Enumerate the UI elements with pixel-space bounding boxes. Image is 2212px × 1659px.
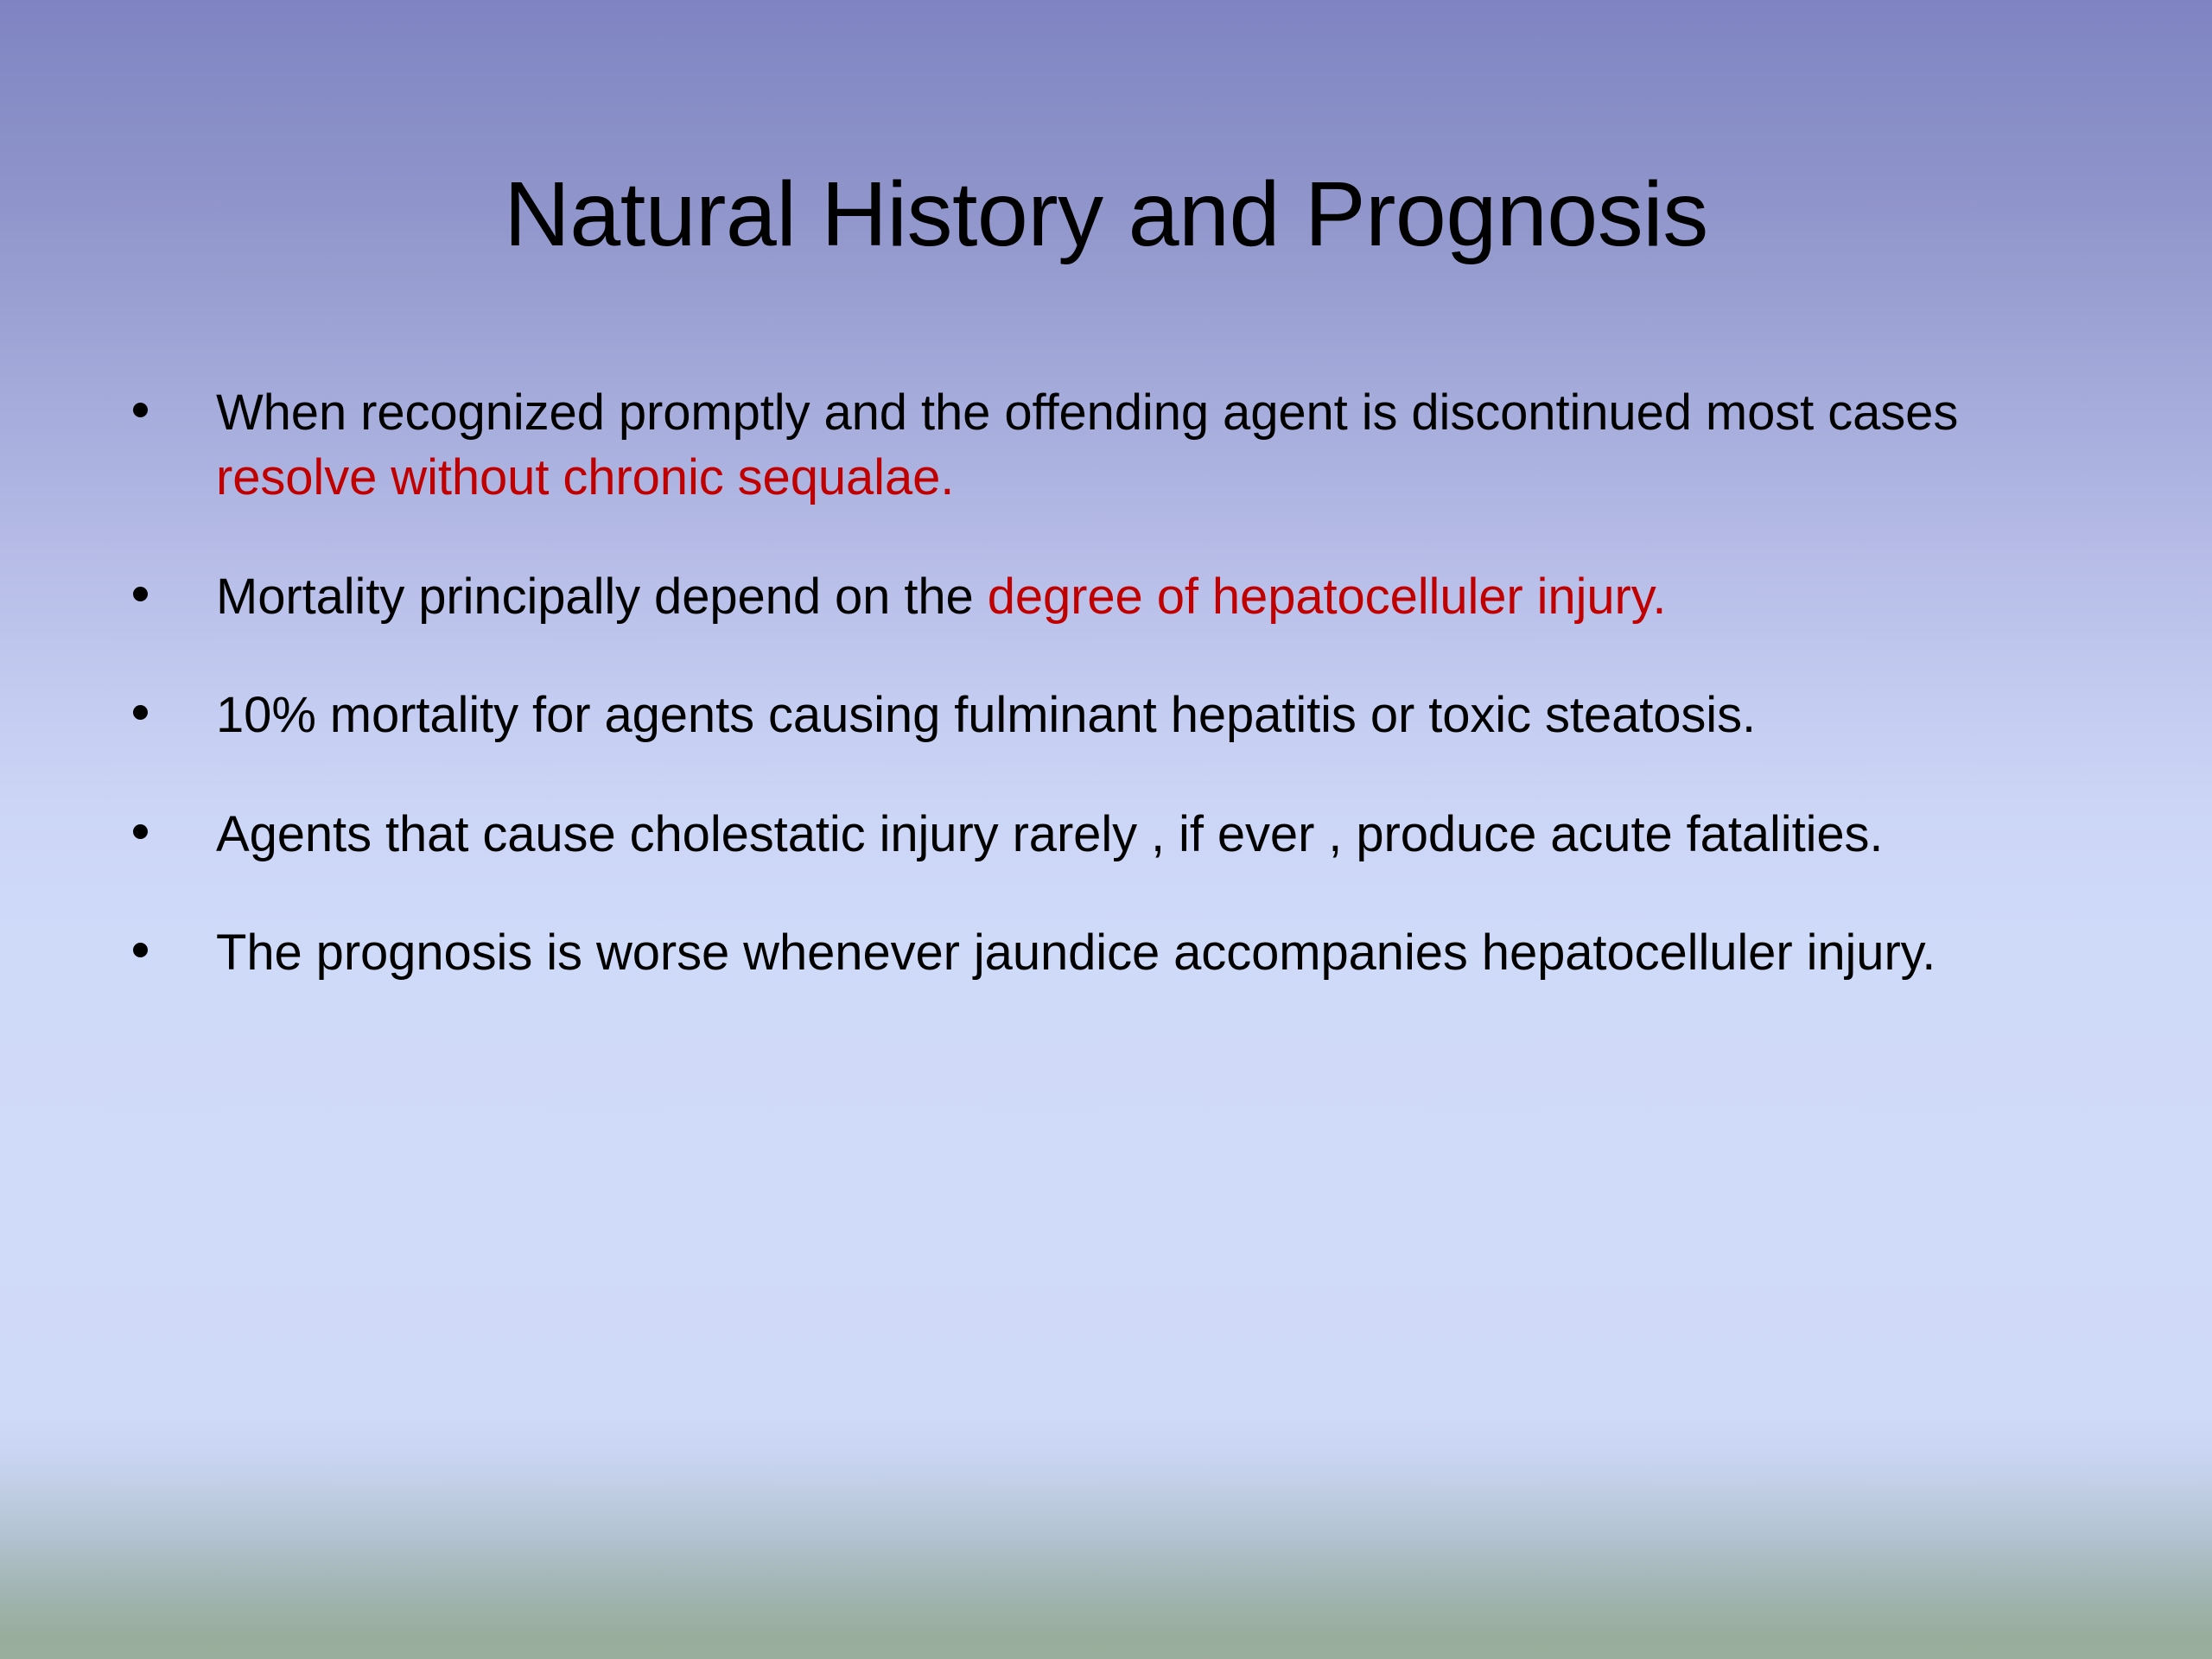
list-item-text-highlight: resolve without chronic sequalae. <box>216 449 954 505</box>
list-item-text-lead: Agents that cause cholestatic injury rar… <box>216 806 1883 862</box>
slide-title-container: Natural History and Prognosis <box>0 102 2212 327</box>
list-item: 10% mortality for agents causing fulmina… <box>121 683 2091 747</box>
list-item: When recognized promptly and the offendi… <box>121 380 2091 511</box>
list-item-text-lead: 10% mortality for agents causing fulmina… <box>216 687 1756 743</box>
list-item: Agents that cause cholestatic injury rar… <box>121 802 2091 867</box>
list-item-text: Agents that cause cholestatic injury rar… <box>216 802 2091 867</box>
list-item-text-lead: Mortality principally depend on the <box>216 569 988 625</box>
bullet-dot-icon <box>133 705 148 720</box>
page-title: Natural History and Prognosis <box>504 163 1708 266</box>
list-item-text: When recognized promptly and the offendi… <box>216 380 2091 511</box>
list-item-text: Mortality principally depend on the degr… <box>216 564 2091 629</box>
presentation-slide: Natural History and Prognosis When recog… <box>0 0 2212 1659</box>
list-item-text-lead: When recognized promptly and the offendi… <box>216 385 1958 441</box>
list-item: The prognosis is worse whenever jaundice… <box>121 920 2091 985</box>
slide-body-content: When recognized promptly and the offendi… <box>121 380 2091 985</box>
bullet-dot-icon <box>133 824 148 839</box>
list-item-text-highlight: degree of hepatocelluler injury. <box>988 569 1667 625</box>
bullet-dot-icon <box>133 403 148 417</box>
list-item-text: The prognosis is worse whenever jaundice… <box>216 920 2091 985</box>
bullet-dot-icon <box>133 943 148 957</box>
list-item: Mortality principally depend on the degr… <box>121 564 2091 629</box>
bullet-dot-icon <box>133 587 148 601</box>
list-item-text: 10% mortality for agents causing fulmina… <box>216 683 2091 747</box>
list-item-text-lead: The prognosis is worse whenever jaundice… <box>216 925 1935 981</box>
